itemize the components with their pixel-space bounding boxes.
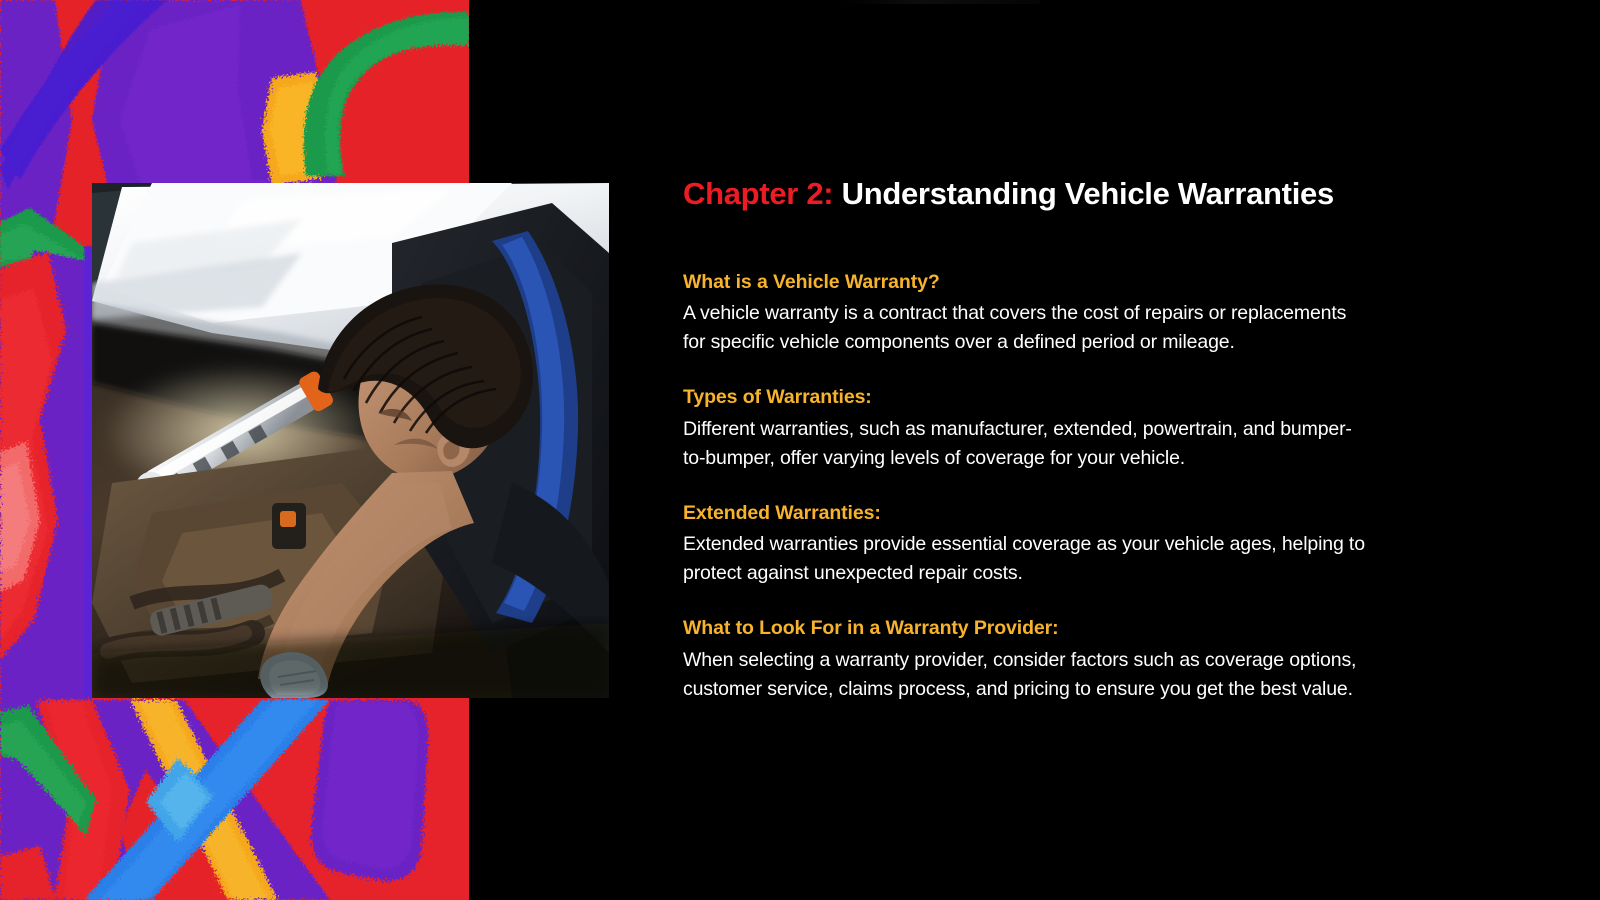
body-line: A vehicle warranty is a contract that co… bbox=[683, 299, 1493, 328]
sections-list: What is a Vehicle Warranty? A vehicle wa… bbox=[683, 270, 1493, 704]
mechanic-inspecting-engine-icon bbox=[92, 183, 609, 698]
section-body: Different warranties, such as manufactur… bbox=[683, 415, 1493, 473]
body-line: Different warranties, such as manufactur… bbox=[683, 415, 1493, 444]
section-heading: What is a Vehicle Warranty? bbox=[683, 270, 1493, 294]
section-extended-warranties: Extended Warranties: Extended warranties… bbox=[683, 501, 1493, 588]
section-body: Extended warranties provide essential co… bbox=[683, 530, 1493, 588]
title-text: Understanding Vehicle Warranties bbox=[833, 176, 1334, 211]
slide-canvas: Chapter 2: Understanding Vehicle Warrant… bbox=[0, 0, 1600, 900]
body-line: to-bumper, offer varying levels of cover… bbox=[683, 444, 1493, 473]
body-line: for specific vehicle components over a d… bbox=[683, 328, 1493, 357]
section-body: When selecting a warranty provider, cons… bbox=[683, 646, 1493, 704]
section-heading: Extended Warranties: bbox=[683, 501, 1493, 525]
body-line: Extended warranties provide essential co… bbox=[683, 530, 1493, 559]
section-types-of-warranties: Types of Warranties: Different warrantie… bbox=[683, 385, 1493, 472]
body-line: customer service, claims process, and pr… bbox=[683, 675, 1493, 704]
mechanic-engine-photo bbox=[92, 183, 609, 698]
section-what-is-a-vehicle-warranty: What is a Vehicle Warranty? A vehicle wa… bbox=[683, 270, 1493, 357]
slide-text-content: Chapter 2: Understanding Vehicle Warrant… bbox=[683, 0, 1533, 900]
section-heading: What to Look For in a Warranty Provider: bbox=[683, 616, 1493, 640]
page-title: Chapter 2: Understanding Vehicle Warrant… bbox=[683, 176, 1334, 212]
section-what-to-look-for-in-a-warranty-provider: What to Look For in a Warranty Provider:… bbox=[683, 616, 1493, 703]
section-heading: Types of Warranties: bbox=[683, 385, 1493, 409]
body-line: protect against unexpected repair costs. bbox=[683, 559, 1493, 588]
chapter-label: Chapter 2: bbox=[683, 176, 833, 211]
section-body: A vehicle warranty is a contract that co… bbox=[683, 299, 1493, 357]
body-line: When selecting a warranty provider, cons… bbox=[683, 646, 1493, 675]
